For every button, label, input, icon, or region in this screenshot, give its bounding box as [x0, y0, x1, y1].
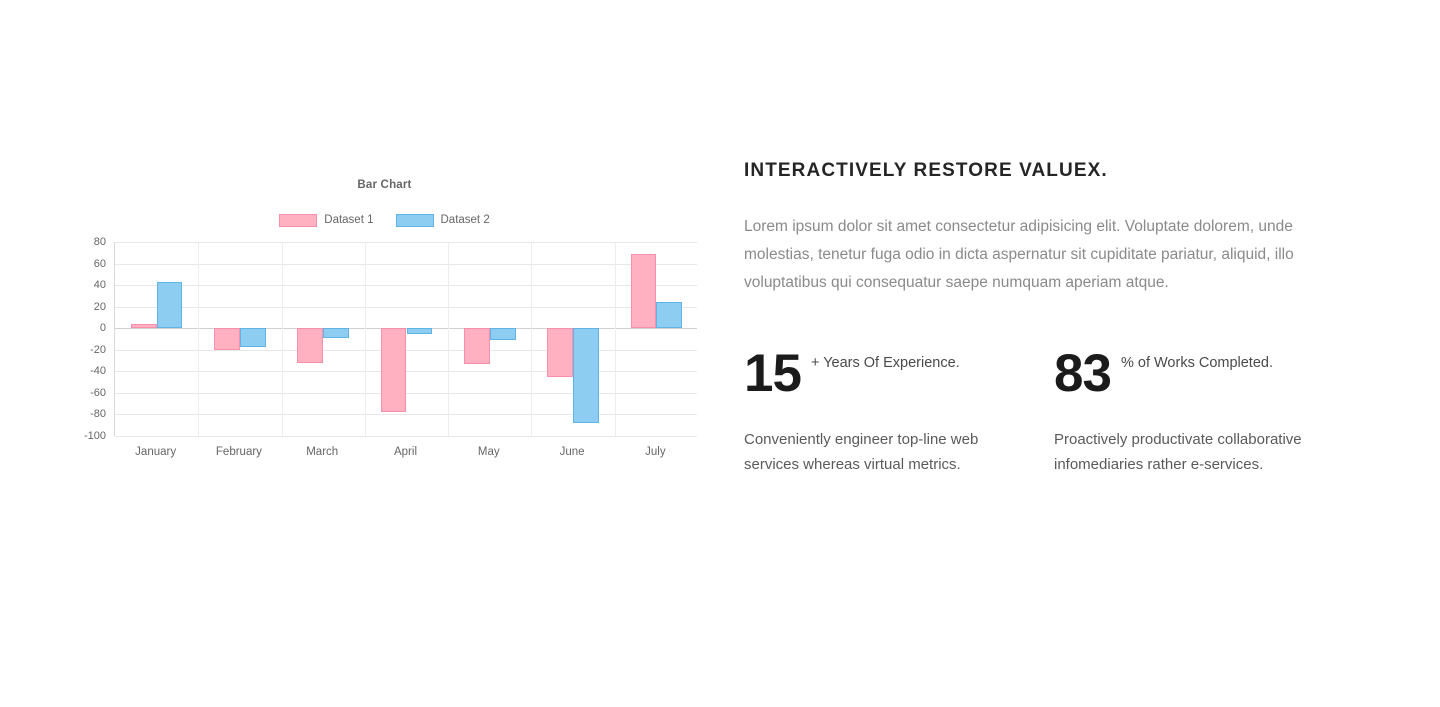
y-axis-tick-label: 20	[94, 301, 106, 313]
bar[interactable]	[323, 328, 349, 338]
stat-number: 83	[1054, 347, 1111, 401]
bar[interactable]	[547, 328, 573, 377]
x-axis-tick-label: June	[560, 446, 585, 458]
page-root: Bar Chart Dataset 1Dataset 2 806040200-2…	[0, 0, 1440, 707]
bar[interactable]	[381, 328, 407, 412]
bar[interactable]	[297, 328, 323, 362]
bar[interactable]	[157, 282, 183, 328]
legend-label: Dataset 1	[324, 214, 373, 226]
stat-number: 15	[744, 347, 801, 401]
stat-top: 83% of Works Completed.	[1054, 347, 1364, 401]
content-panel: INTERACTIVELY RESTORE VALUEX. Lorem ipsu…	[744, 158, 1364, 477]
legend-label: Dataset 2	[441, 214, 490, 226]
x-axis-tick-label: April	[394, 446, 417, 458]
bar[interactable]	[656, 302, 682, 328]
bar[interactable]	[490, 328, 516, 340]
bar[interactable]	[464, 328, 490, 364]
stat-block: 83% of Works Completed.Proactively produ…	[1054, 347, 1364, 477]
stat-caption: % of Works Completed.	[1121, 351, 1273, 375]
section-heading: INTERACTIVELY RESTORE VALUEX.	[744, 158, 1364, 184]
y-axis-tick-label: -40	[90, 365, 106, 377]
y-axis-tick-label: 0	[100, 322, 106, 334]
stat-top: 15+ Years Of Experience.	[744, 347, 1054, 401]
y-axis-tick-label: 80	[94, 236, 106, 248]
stat-description: Proactively productivate collaborative i…	[1054, 427, 1344, 477]
bar[interactable]	[240, 328, 266, 346]
y-axis-tick-label: -80	[90, 408, 106, 420]
chart-legend: Dataset 1Dataset 2	[72, 212, 697, 228]
section-paragraph: Lorem ipsum dolor sit amet consectetur a…	[744, 213, 1359, 297]
bar[interactable]	[214, 328, 240, 350]
legend-item[interactable]: Dataset 1	[279, 214, 373, 227]
y-axis-tick-label: -100	[84, 430, 106, 442]
stat-block: 15+ Years Of Experience.Conveniently eng…	[744, 347, 1054, 477]
stat-caption: + Years Of Experience.	[811, 351, 960, 375]
stats-row: 15+ Years Of Experience.Conveniently eng…	[744, 347, 1364, 477]
x-axis-tick-label: January	[135, 446, 176, 458]
legend-swatch-icon	[396, 214, 434, 227]
stat-description: Conveniently engineer top-line web servi…	[744, 427, 1034, 477]
y-axis-tick-label: -20	[90, 344, 106, 356]
bar[interactable]	[131, 324, 157, 328]
legend-item[interactable]: Dataset 2	[396, 214, 490, 227]
bar[interactable]	[407, 328, 433, 333]
x-axis-tick-label: May	[478, 446, 500, 458]
gridline-horizontal	[115, 436, 697, 437]
bar[interactable]	[631, 254, 657, 328]
bars-layer	[115, 242, 697, 436]
y-axis-tick-label: 40	[94, 279, 106, 291]
y-axis: 806040200-20-40-60-80-100	[72, 242, 110, 436]
y-axis-tick-label: -60	[90, 387, 106, 399]
x-axis-tick-label: March	[306, 446, 338, 458]
legend-swatch-icon	[279, 214, 317, 227]
bar[interactable]	[573, 328, 599, 423]
chart-plot-wrap: 806040200-20-40-60-80-100 JanuaryFebruar…	[72, 242, 697, 464]
x-axis-tick-label: February	[216, 446, 262, 458]
x-axis-tick-label: July	[645, 446, 665, 458]
plot-area	[114, 242, 697, 436]
y-axis-tick-label: 60	[94, 258, 106, 270]
chart-title: Bar Chart	[72, 178, 697, 192]
x-axis-labels: JanuaryFebruaryMarchAprilMayJuneJuly	[114, 440, 697, 462]
bar-chart-panel: Bar Chart Dataset 1Dataset 2 806040200-2…	[72, 178, 697, 483]
